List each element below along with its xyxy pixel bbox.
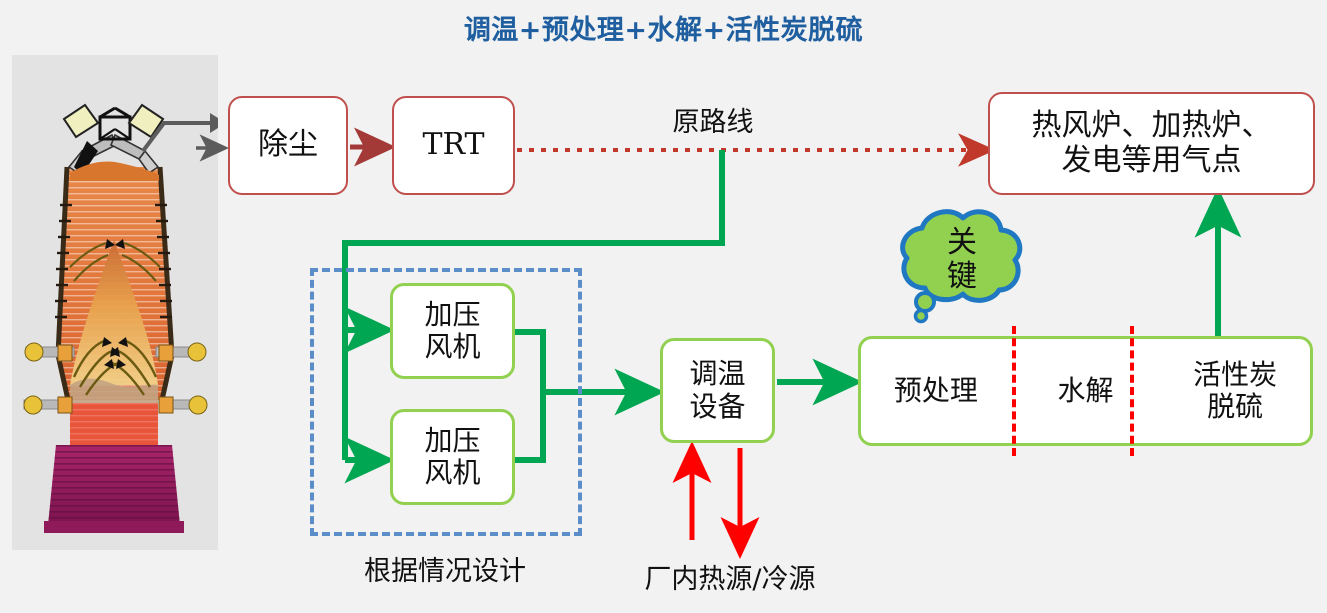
activated-carbon-line-2: 脱硫 xyxy=(1207,390,1263,423)
gas-use-line-1: 热风炉、加热炉、 xyxy=(1032,108,1272,143)
segment-pretreatment-label: 预处理 xyxy=(894,375,978,407)
node-pressurized-fan-2-label: 加压 风机 xyxy=(424,425,480,489)
node-trt[interactable]: TRT xyxy=(392,96,515,195)
node-pressurized-fan-2[interactable]: 加压 风机 xyxy=(390,409,515,505)
gas-use-line-2: 发电等用气点 xyxy=(1062,143,1242,178)
node-dedust-label: 除尘 xyxy=(258,128,318,163)
process-divider-2 xyxy=(1130,326,1134,456)
cloud-bubble-large xyxy=(916,293,934,311)
fan2-line-1: 加压 xyxy=(424,424,480,457)
node-temperature-control-equipment[interactable]: 调温 设备 xyxy=(660,338,775,443)
segment-pretreatment[interactable]: 预处理 xyxy=(861,339,1011,443)
diagram-canvas: 调温+预处理+水解+活性炭脱硫 xyxy=(0,0,1327,613)
page-title: 调温+预处理+水解+活性炭脱硫 xyxy=(0,8,1327,47)
segment-activated-carbon-desulfurization[interactable]: 活性炭 脱硫 xyxy=(1160,339,1310,443)
node-trt-label: TRT xyxy=(422,128,484,163)
node-gas-use-points[interactable]: 热风炉、加热炉、 发电等用气点 xyxy=(988,92,1315,195)
node-dedust[interactable]: 除尘 xyxy=(228,96,348,195)
fan2-line-2: 风机 xyxy=(424,456,480,489)
label-plant-heat-cold-source: 厂内热源/冷源 xyxy=(605,557,855,596)
temp-control-line-1: 调温 xyxy=(689,357,745,390)
blast-furnace-image xyxy=(12,55,218,550)
fan1-line-1: 加压 xyxy=(424,298,480,331)
callout-key-cloud: 关 键 xyxy=(875,198,1035,338)
process-divider-1 xyxy=(1012,326,1016,456)
node-pressurized-fan-1[interactable]: 加压 风机 xyxy=(390,283,515,379)
segment-hydrolysis-label: 水解 xyxy=(1058,375,1114,407)
label-design-per-situation: 根据情况设计 xyxy=(300,549,590,588)
fan1-line-2: 风机 xyxy=(424,330,480,363)
cloud-label-line-1: 关 xyxy=(947,225,977,260)
node-temperature-control-label: 调温 设备 xyxy=(689,358,745,422)
label-original-route: 原路线 xyxy=(613,100,813,139)
node-pressurized-fan-1-label: 加压 风机 xyxy=(424,299,480,363)
segment-activated-carbon-label: 活性炭 脱硫 xyxy=(1193,359,1277,423)
node-gas-use-points-label: 热风炉、加热炉、 发电等用气点 xyxy=(1032,109,1272,178)
temp-control-line-2: 设备 xyxy=(689,390,745,423)
cloud-label-line-2: 键 xyxy=(947,259,977,294)
segment-hydrolysis[interactable]: 水解 xyxy=(1011,339,1161,443)
activated-carbon-line-1: 活性炭 xyxy=(1193,358,1277,391)
cloud-bubble-small xyxy=(916,311,927,322)
node-treatment-train[interactable]: 预处理 水解 活性炭 脱硫 xyxy=(858,336,1313,446)
